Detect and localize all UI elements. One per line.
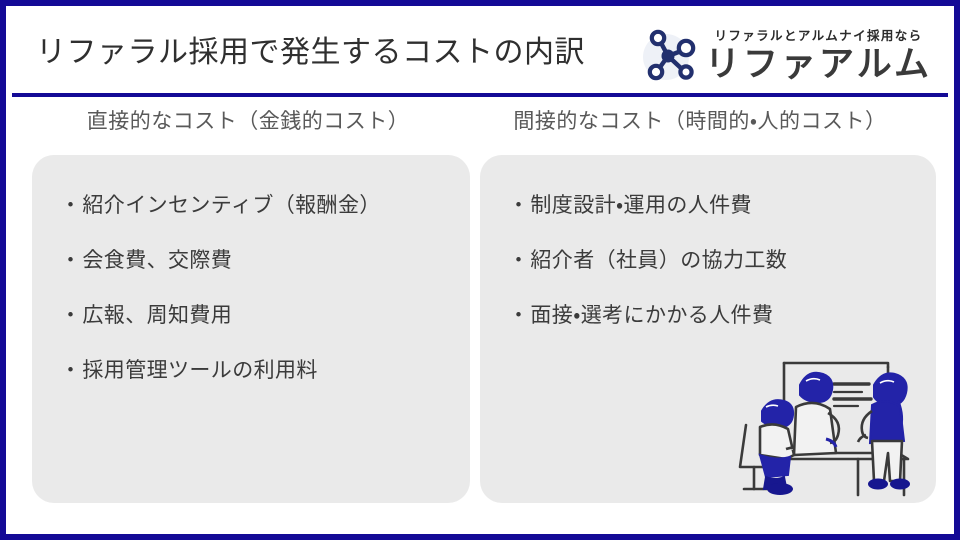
card-direct-cost: ・ 紹介インセンティブ（報酬金） ・ 会食費、交際費 ・ 広報、周知費用 ・ 採… — [32, 155, 470, 503]
list-item: ・ 制度設計・運用の人件費 — [508, 195, 936, 216]
bullet-marker: ・ — [508, 250, 529, 271]
logo-wordmark: リファアルム — [705, 47, 932, 82]
list-item-label: 面接・選考にかかる人件費 — [530, 305, 773, 326]
list-item-label: 会食費、交際費 — [82, 250, 232, 271]
list-item: ・ 面接・選考にかかる人件費 — [508, 305, 936, 326]
page-title: リファラル採用で発生するコストの内訳 — [36, 38, 585, 68]
list-item-label: 紹介インセンティブ（報酬金） — [82, 195, 380, 216]
network-node-icon — [641, 26, 701, 86]
list-item-label: 採用管理ツールの利用料 — [82, 360, 317, 381]
bullet-marker: ・ — [508, 195, 529, 216]
list-item-label: 紹介者（社員）の協力工数 — [530, 250, 787, 271]
list-item: ・ 紹介者（社員）の協力工数 — [508, 250, 936, 271]
bullet-marker: ・ — [60, 305, 81, 326]
list-item-label: 制度設計・運用の人件費 — [530, 195, 752, 216]
column-heading-indirect: 間接的なコスト（時間的・人的コスト） — [480, 111, 942, 132]
brand-logo: リファラルとアルムナイ採用なら リファアルム — [641, 20, 932, 92]
list-item-label: 広報、周知費用 — [82, 305, 232, 326]
list-item: ・ 会食費、交際費 — [60, 250, 470, 271]
list-item: ・ 採用管理ツールの利用料 — [60, 360, 470, 381]
column-indirect-cost: 間接的なコスト（時間的・人的コスト） ・ 制度設計・運用の人件費 ・ 紹介者（社… — [480, 111, 942, 503]
bullet-marker: ・ — [60, 360, 81, 381]
bullet-marker: ・ — [508, 305, 529, 326]
bullet-marker: ・ — [60, 195, 81, 216]
indirect-cost-list: ・ 制度設計・運用の人件費 ・ 紹介者（社員）の協力工数 ・ 面接・選考にかかる… — [508, 195, 936, 326]
slide-header: リファラル採用で発生するコストの内訳 — [12, 12, 948, 97]
logo-tagline: リファラルとアルムナイ採用なら — [705, 30, 932, 43]
list-item: ・ 広報、周知費用 — [60, 305, 470, 326]
column-heading-direct: 直接的なコスト（金銭的コスト） — [32, 111, 476, 132]
list-item: ・ 紹介インセンティブ（報酬金） — [60, 195, 470, 216]
meeting-interview-illustration — [738, 349, 928, 499]
card-indirect-cost: ・ 制度設計・運用の人件費 ・ 紹介者（社員）の協力工数 ・ 面接・選考にかかる… — [480, 155, 936, 503]
logo-text-block: リファラルとアルムナイ採用なら リファアルム — [705, 30, 932, 82]
direct-cost-list: ・ 紹介インセンティブ（報酬金） ・ 会食費、交際費 ・ 広報、周知費用 ・ 採… — [60, 195, 470, 381]
bullet-marker: ・ — [60, 250, 81, 271]
column-direct-cost: 直接的なコスト（金銭的コスト） ・ 紹介インセンティブ（報酬金） ・ 会食費、交… — [32, 111, 476, 503]
slide-canvas: リファラル採用で発生するコストの内訳 — [0, 0, 960, 540]
